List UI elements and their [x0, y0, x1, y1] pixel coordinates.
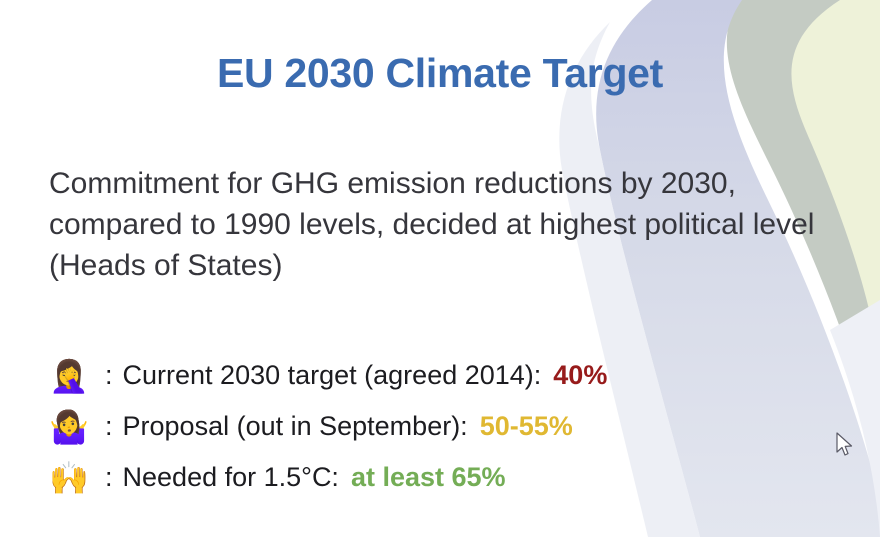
bullet-label-proposal: Proposal (out in September): — [123, 411, 468, 442]
mouse-cursor — [836, 432, 854, 458]
slide-canvas: EU 2030 Climate Target Commitment for GH… — [0, 0, 880, 537]
bullet-value-needed: at least 65% — [339, 462, 506, 493]
slide-body-text: Commitment for GHG emission reductions b… — [49, 163, 849, 286]
shrug-woman-emoji: 🤷‍♀️ — [49, 411, 105, 443]
bullet-label-current-target: Current 2030 target (agreed 2014): — [123, 360, 542, 391]
bullet-separator: : — [105, 360, 123, 391]
bullet-row-needed: 🙌 : Needed for 1.5°C: at least 65% — [49, 452, 849, 503]
cursor-arrow-icon — [837, 433, 852, 455]
bullet-value-current-target: 40% — [541, 360, 607, 391]
bullet-separator: : — [105, 411, 123, 442]
bullet-list: 🤦‍♀️ : Current 2030 target (agreed 2014)… — [49, 350, 849, 503]
bullet-value-proposal: 50-55% — [468, 411, 573, 442]
bullet-row-proposal: 🤷‍♀️ : Proposal (out in September): 50-5… — [49, 401, 849, 452]
raising-hands-emoji: 🙌 — [49, 462, 105, 494]
bullet-separator: : — [105, 462, 123, 493]
bullet-label-needed: Needed for 1.5°C: — [123, 462, 339, 493]
slide-title: EU 2030 Climate Target — [0, 50, 880, 97]
facepalm-woman-emoji: 🤦‍♀️ — [49, 360, 105, 392]
bullet-row-current-target: 🤦‍♀️ : Current 2030 target (agreed 2014)… — [49, 350, 849, 401]
